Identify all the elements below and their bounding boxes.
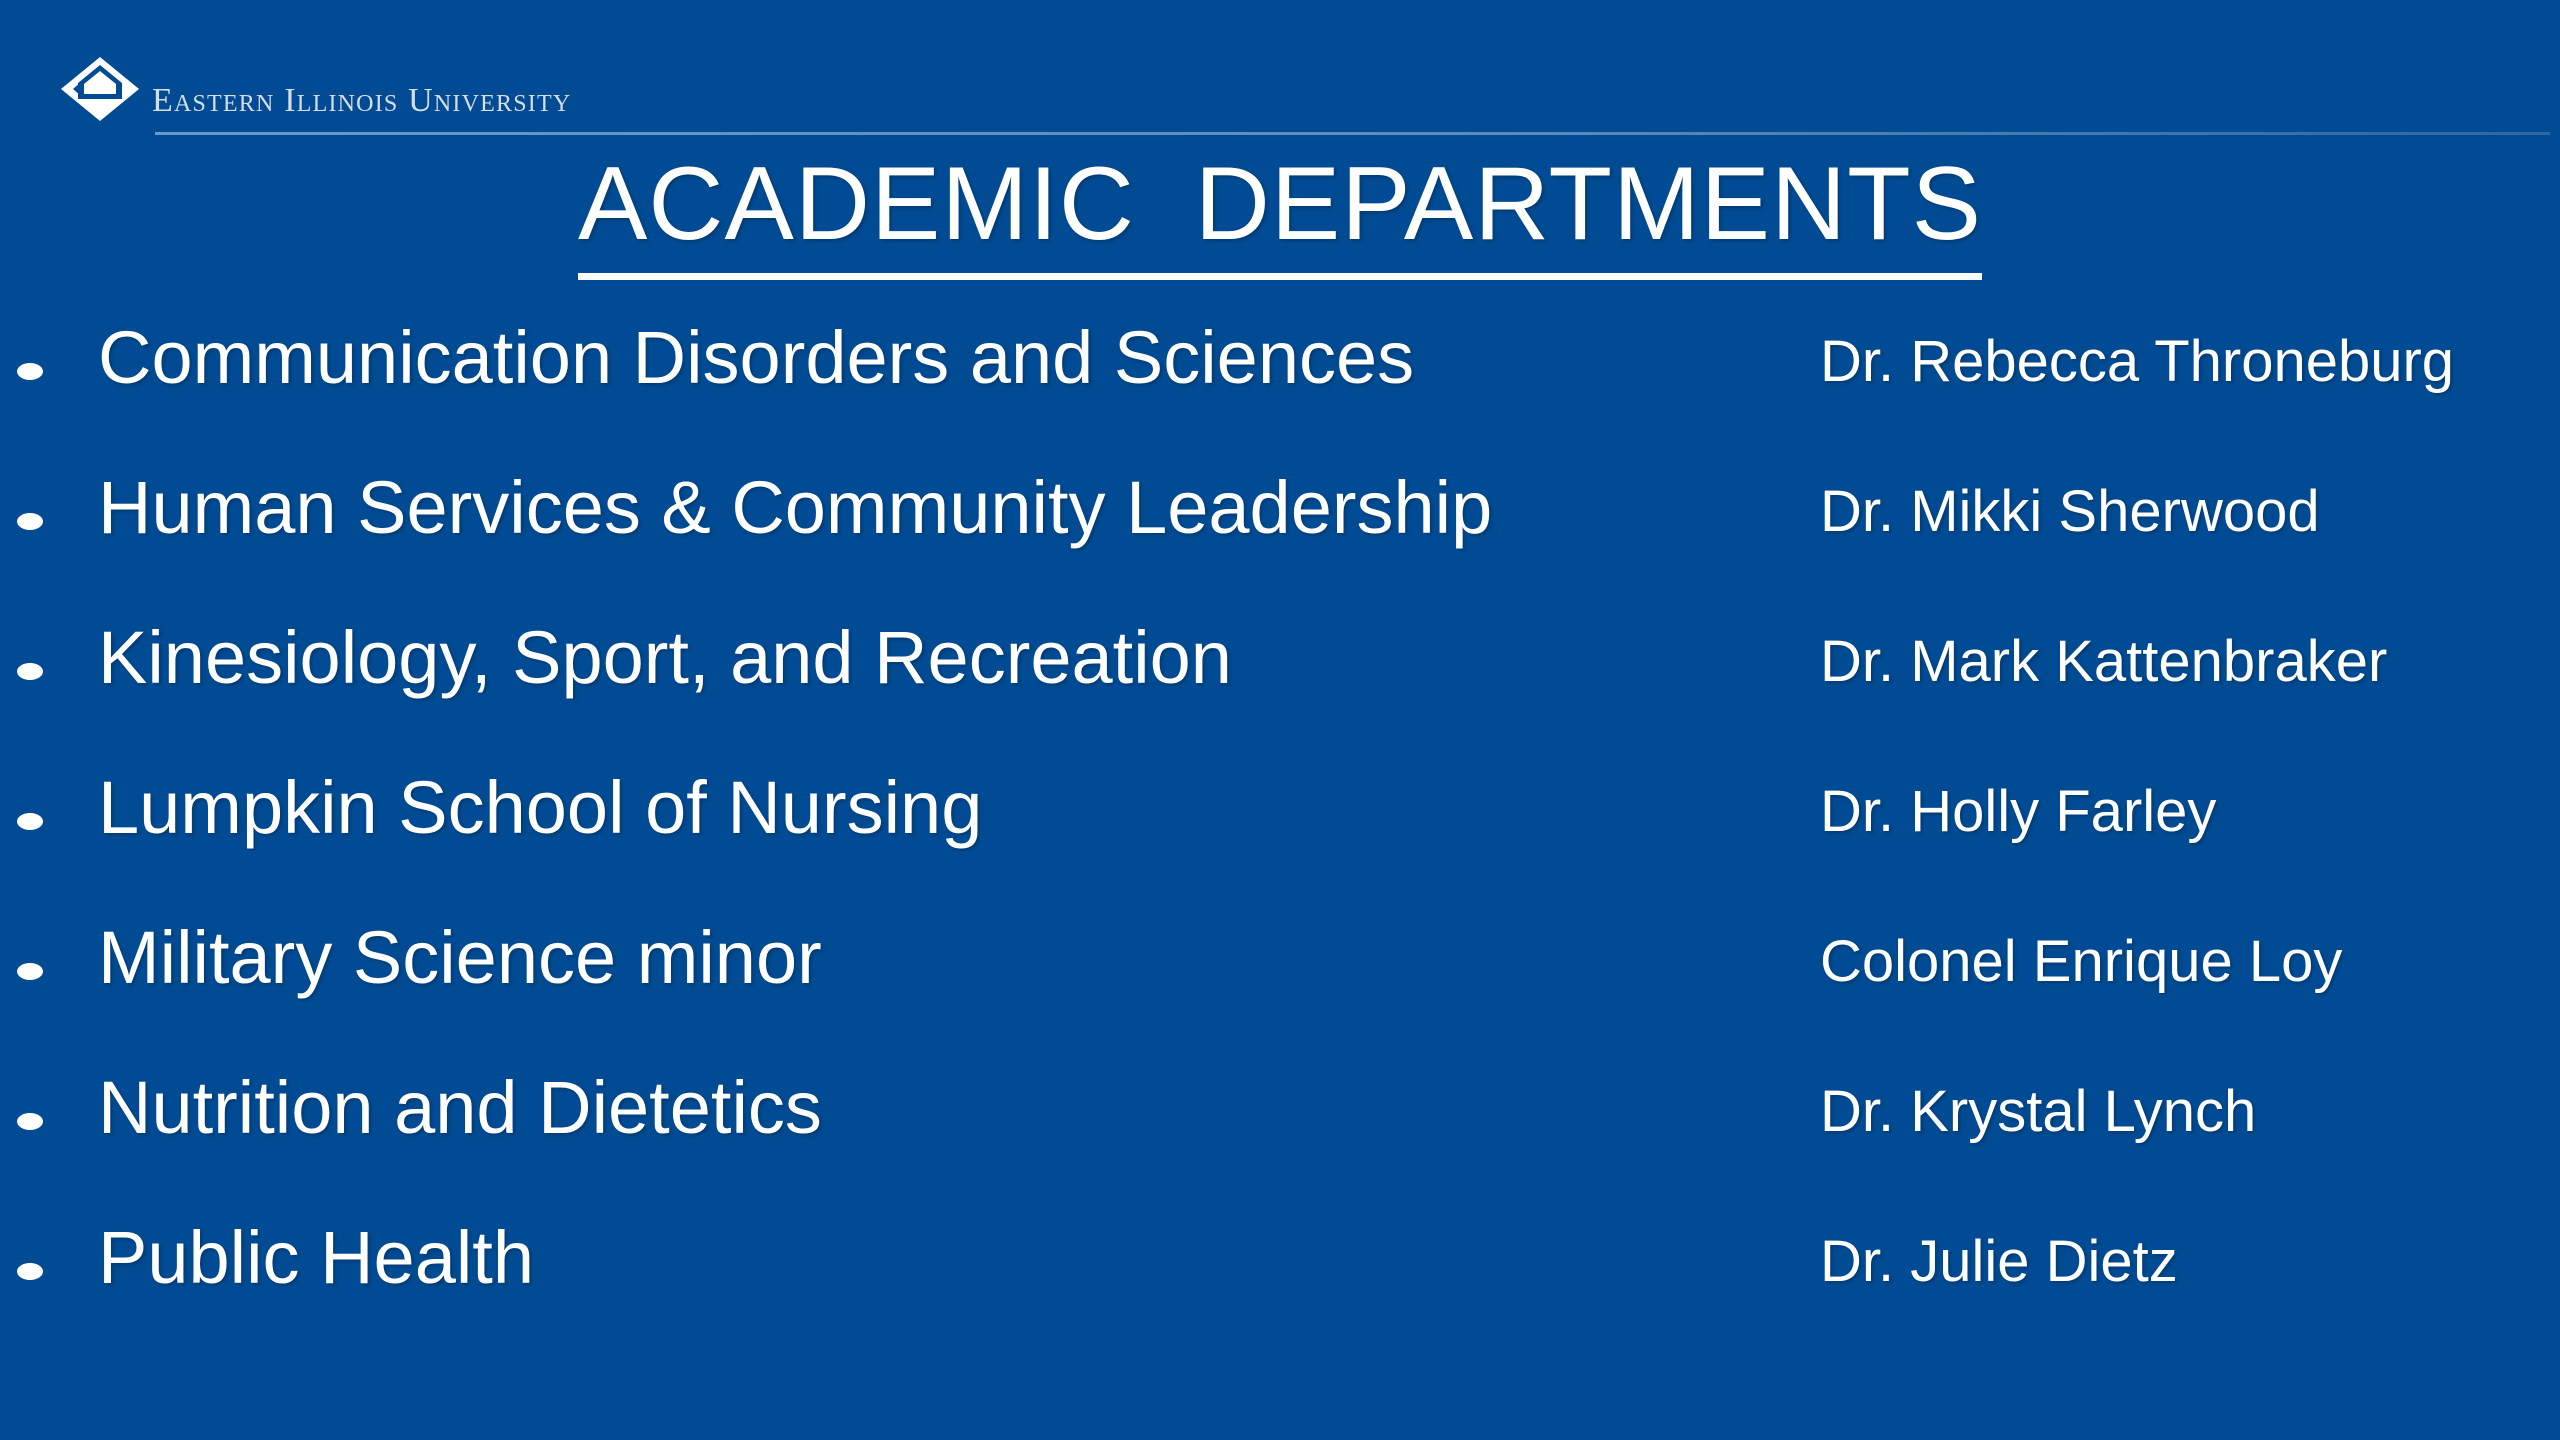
department-chair: Colonel Enrique Loy (1820, 928, 2342, 996)
department-chair: Dr. Julie Dietz (1820, 1228, 2178, 1296)
bullet-icon (17, 1263, 43, 1280)
bullet-icon (17, 363, 43, 380)
university-wordmark: Eastern Illinois University (152, 84, 571, 118)
department-name: Communication Disorders and Sciences (98, 314, 1414, 401)
university-logo: Eastern Illinois University (60, 52, 571, 122)
bullet-icon (17, 813, 43, 830)
list-item: Nutrition and Dietetics Dr. Krystal Lync… (0, 1050, 2560, 1200)
list-item: Communication Disorders and Sciences Dr.… (0, 300, 2560, 450)
department-chair: Dr. Holly Farley (1820, 778, 2216, 846)
department-name: Public Health (98, 1214, 534, 1301)
list-item: Public Health Dr. Julie Dietz (0, 1200, 2560, 1350)
department-name: Kinesiology, Sport, and Recreation (98, 614, 1232, 701)
department-name: Lumpkin School of Nursing (98, 764, 982, 851)
header-divider (155, 132, 2550, 135)
bullet-icon (17, 1113, 43, 1130)
department-list: Communication Disorders and Sciences Dr.… (0, 300, 2560, 1350)
department-chair: Dr. Krystal Lynch (1820, 1078, 2256, 1146)
list-item: Human Services & Community Leadership Dr… (0, 450, 2560, 600)
list-item: Kinesiology, Sport, and Recreation Dr. M… (0, 600, 2560, 750)
slide-title-container: ACADEMIC DEPARTMENTS (0, 150, 2560, 280)
department-name: Nutrition and Dietetics (98, 1064, 822, 1151)
list-item: Military Science minor Colonel Enrique L… (0, 900, 2560, 1050)
list-item: Lumpkin School of Nursing Dr. Holly Farl… (0, 750, 2560, 900)
department-name: Military Science minor (98, 914, 822, 1001)
presentation-slide: Eastern Illinois University ACADEMIC DEP… (0, 0, 2560, 1440)
bullet-icon (17, 963, 43, 980)
eiu-diamond-oldmain-icon (60, 56, 140, 122)
department-chair: Dr. Mark Kattenbraker (1820, 628, 2387, 696)
department-name: Human Services & Community Leadership (98, 464, 1492, 551)
bullet-icon (17, 513, 43, 530)
slide-title: ACADEMIC DEPARTMENTS (578, 150, 1982, 280)
bullet-icon (17, 663, 43, 680)
department-chair: Dr. Mikki Sherwood (1820, 478, 2320, 546)
department-chair: Dr. Rebecca Throneburg (1820, 328, 2454, 396)
